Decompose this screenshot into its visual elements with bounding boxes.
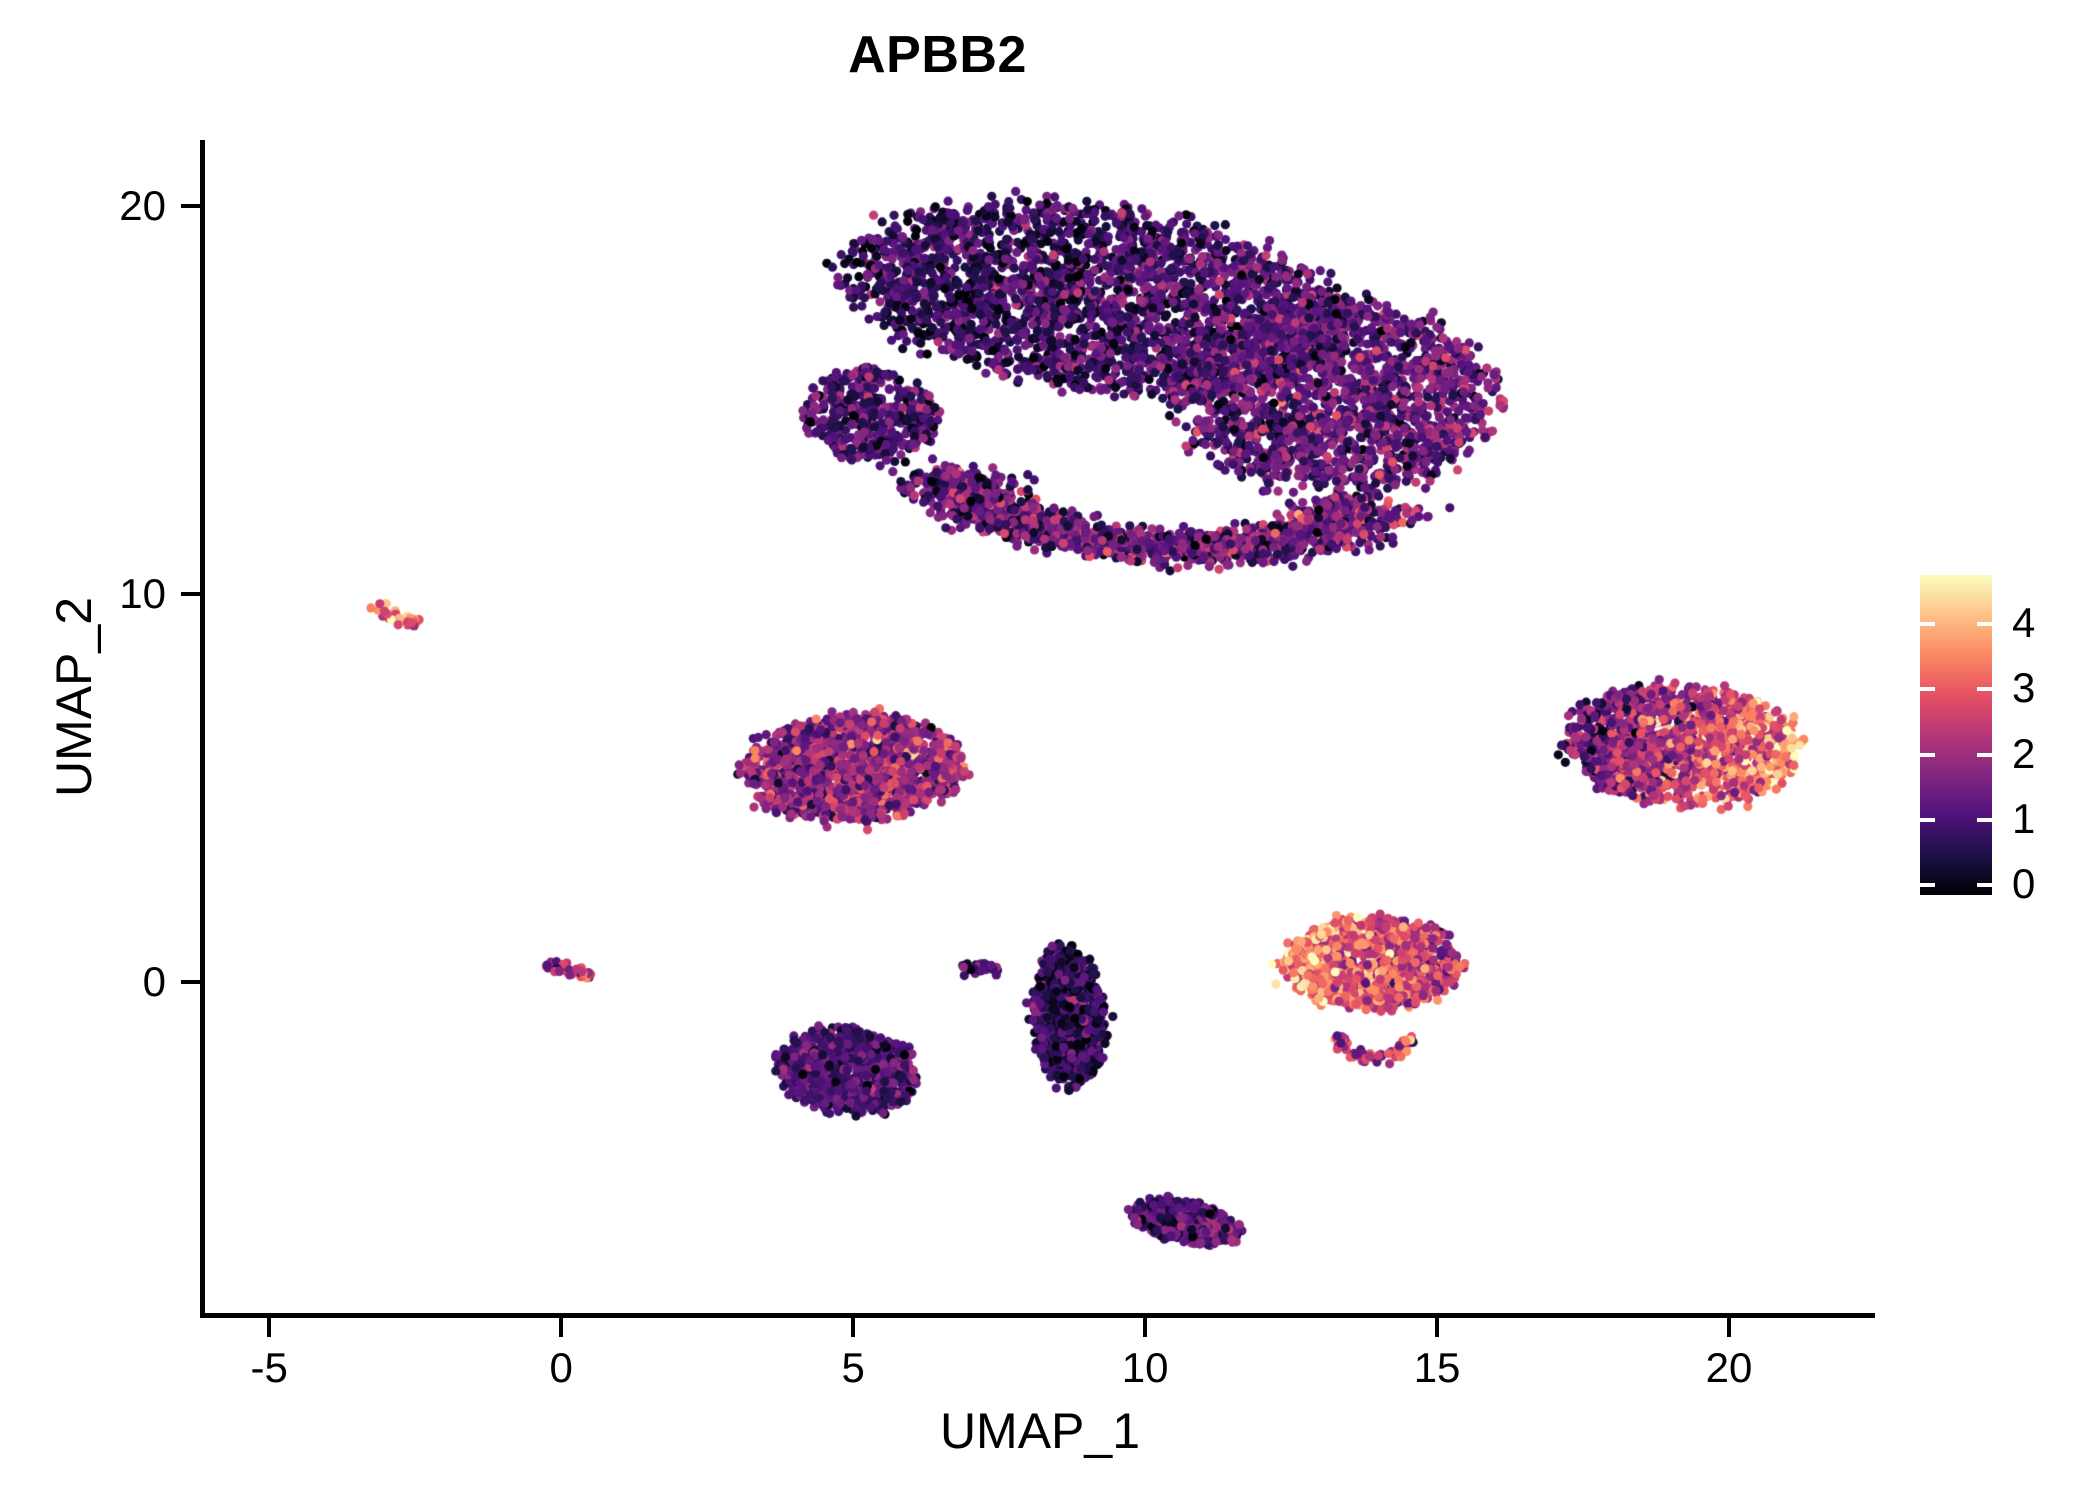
y-tick-mark [181, 592, 200, 596]
colorbar-tick-mark [1920, 753, 1935, 757]
x-tick-mark [1143, 1318, 1147, 1337]
x-axis-title: UMAP_1 [205, 1402, 1875, 1460]
colorbar-tick-mark [1977, 818, 1992, 822]
colorbar-tick-mark [1977, 753, 1992, 757]
colorbar-tick-label: 1 [2012, 795, 2035, 843]
x-tick-mark [1435, 1318, 1439, 1337]
x-tick-mark [1727, 1318, 1731, 1337]
page-title: APBB2 [0, 24, 1875, 86]
colorbar-tick-mark [1920, 883, 1935, 887]
colorbar-tick-label: 3 [2012, 664, 2035, 712]
colorbar-tick-mark [1977, 687, 1992, 691]
scatter-points-layer [205, 140, 1875, 1315]
colorbar-tick-mark [1920, 818, 1935, 822]
y-tick-mark [181, 204, 200, 208]
x-axis-line [200, 1313, 1875, 1318]
colorbar-tick-mark [1977, 622, 1992, 626]
x-tick-label: 20 [1649, 1344, 1809, 1392]
colorbar [1920, 575, 1992, 895]
x-tick-label: 5 [773, 1344, 933, 1392]
x-tick-mark [851, 1318, 855, 1337]
x-tick-label: 10 [1065, 1344, 1225, 1392]
colorbar-tick-label: 0 [2012, 860, 2035, 908]
colorbar-tick-mark [1920, 622, 1935, 626]
x-tick-label: 15 [1357, 1344, 1517, 1392]
umap-feature-plot: APBB2 -505101520 01020 UMAP_1 UMAP_2 012… [0, 0, 2100, 1500]
y-tick-label: 20 [0, 182, 166, 230]
y-axis-line [200, 140, 205, 1318]
x-tick-mark [267, 1318, 271, 1337]
plot-panel[interactable] [205, 140, 1875, 1315]
colorbar-tick-label: 4 [2012, 599, 2035, 647]
x-tick-mark [559, 1318, 563, 1337]
colorbar-tick-label: 2 [2012, 730, 2035, 778]
y-tick-mark [181, 980, 200, 984]
colorbar-tick-mark [1977, 883, 1992, 887]
x-tick-label: -5 [189, 1344, 349, 1392]
colorbar-legend[interactable]: 01234 [1920, 575, 2090, 905]
y-axis-title: UMAP_2 [45, 317, 103, 1077]
colorbar-tick-mark [1920, 687, 1935, 691]
x-tick-label: 0 [481, 1344, 641, 1392]
